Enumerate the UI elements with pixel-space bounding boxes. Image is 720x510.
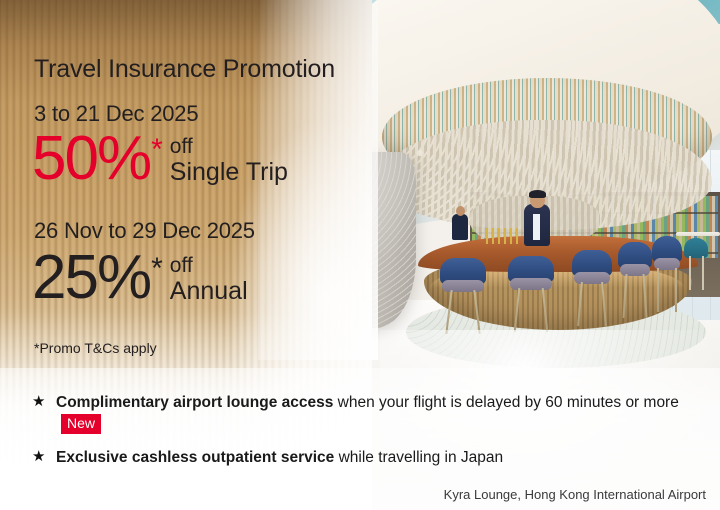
offer-1-off-label: off xyxy=(170,136,288,158)
offer-1-asterisk: * xyxy=(151,135,163,165)
status-badge: New xyxy=(61,414,101,434)
offer-2-plan: Annual xyxy=(170,277,248,305)
offer-1-percent: 50% xyxy=(32,131,150,187)
offer-single-trip: 50% * off Single Trip xyxy=(32,131,288,187)
offer-2-asterisk: * xyxy=(151,254,163,284)
photo-caption: Kyra Lounge, Hong Kong International Air… xyxy=(444,487,706,502)
offer-annual: 25% * off Annual xyxy=(32,250,248,306)
promotion-content: Travel Insurance Promotion 3 to 21 Dec 2… xyxy=(0,0,720,510)
benefit-2-rest: while travelling in Japan xyxy=(334,449,503,466)
benefits-list: ★ Complimentary airport lounge access wh… xyxy=(32,392,692,480)
offer-1-plan: Single Trip xyxy=(170,158,288,186)
benefit-1-rest: when your flight is delayed by 60 minute… xyxy=(333,394,678,411)
benefit-2-text: Exclusive cashless outpatient service wh… xyxy=(56,447,503,468)
benefit-2-bold: Exclusive cashless outpatient service xyxy=(56,449,334,466)
page-title: Travel Insurance Promotion xyxy=(34,55,335,84)
offer-2-date-range: 26 Nov to 29 Dec 2025 xyxy=(34,218,255,244)
benefit-1-text: Complimentary airport lounge access when… xyxy=(56,392,692,435)
list-item: ★ Exclusive cashless outpatient service … xyxy=(32,447,692,468)
benefit-1-bold: Complimentary airport lounge access xyxy=(56,394,333,411)
star-icon: ★ xyxy=(32,447,56,467)
list-item: ★ Complimentary airport lounge access wh… xyxy=(32,392,692,435)
offer-2-percent: 25% xyxy=(32,250,150,306)
star-icon: ★ xyxy=(32,392,56,412)
travel-insurance-promotion-banner: Travel Insurance Promotion 3 to 21 Dec 2… xyxy=(0,0,720,510)
offer-2-off-label: off xyxy=(170,255,248,277)
terms-note: *Promo T&Cs apply xyxy=(34,340,157,356)
